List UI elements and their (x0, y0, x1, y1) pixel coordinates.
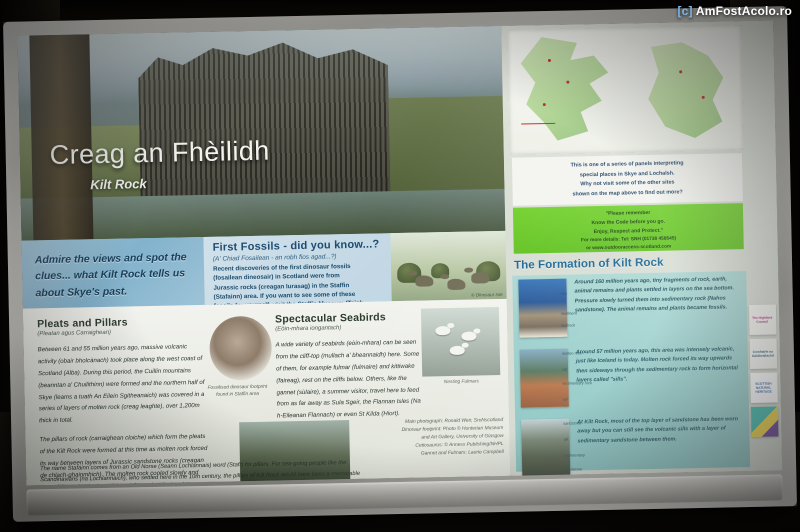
formation-text-1: Around 160 million years ago, tiny fragm… (574, 275, 743, 316)
series-information-box: This is one of a series of panels interp… (512, 153, 743, 206)
formation-label: sill (562, 367, 567, 372)
formation-text-2: Around 57 million years ago, this area w… (576, 345, 745, 386)
panel-right-column: This is one of a series of panels interp… (501, 20, 782, 475)
banner-row: Admire the views and spot the clues... w… (21, 231, 506, 309)
nesting-fulmars-image (421, 307, 500, 377)
watermark: [c] AmFostAcolo.ro (677, 4, 792, 18)
spectacular-seabirds-section: Spectacular Seabirds (Eòin-mhara iongant… (275, 311, 427, 430)
pleats-and-pillars-section: Pleats and Pillars (Pleatan agus Carraig… (37, 315, 209, 486)
logo-strip: The Highland Council Comhairle na Gàidhe… (746, 270, 780, 467)
map-mainland-landmass (642, 41, 736, 143)
access-code-box: "Please remember Know the Code before yo… (513, 203, 744, 254)
map-skye-landmass (515, 35, 635, 145)
formation-stage-1: sea sediment bedrock Around 160 million … (512, 271, 747, 342)
first-fossils-title: First Fossils - did you know...? (213, 238, 380, 253)
first-fossils-block: First Fossils - did you know...? (A' Chi… (203, 231, 506, 305)
highland-council-logo: The Highland Council (748, 304, 776, 335)
fossil-footprint-image (209, 316, 272, 381)
formation-heading: The Formation of Kilt Rock (514, 257, 664, 272)
article-area: Pleats and Pillars (Pleatan agus Carraig… (23, 299, 510, 486)
formation-label: sea (561, 291, 567, 296)
fossil-footprint-caption: Fossilised dinosaur footprint found in S… (202, 384, 272, 400)
formation-stage-2: molten rock sill sedimentary rock sill A… (514, 341, 749, 412)
panel-left-column: Creag an Fhèilidh Kilt Rock Admire the v… (17, 26, 510, 486)
panel-face: Creag an Fhèilidh Kilt Rock Admire the v… (17, 20, 782, 485)
formation-label: sandstone (564, 466, 582, 471)
formation-label: bedrock (561, 322, 575, 327)
page-subtitle: Kilt Rock (90, 176, 147, 192)
formation-diagram-panel: sea sediment bedrock Around 160 million … (512, 271, 750, 472)
partner-logo (750, 406, 778, 437)
pleats-paragraph-1: Between 61 and 55 million years ago, mas… (38, 341, 208, 427)
locator-map (507, 25, 743, 155)
fulmars-caption: Nesting Fulmars (422, 379, 500, 386)
interpretation-panel: Creag an Fhèilidh Kilt Rock Admire the v… (3, 6, 797, 522)
first-fossils-gaelic: (A' Chiad Fosailean - an robh fios agad.… (213, 253, 337, 262)
formation-stage-3: sandstone sill sedimentary sandstone At … (515, 411, 750, 482)
formation-diagram-3 (521, 419, 570, 478)
watermark-bracket: [c] (677, 4, 692, 18)
formation-label: sill (564, 437, 569, 442)
photograph-scene: Creag an Fhèilidh Kilt Rock Admire the v… (0, 0, 800, 532)
formation-diagram-1 (518, 279, 567, 338)
page-title: Creag an Fhèilidh (49, 136, 270, 171)
formation-label: sedimentary (564, 452, 585, 457)
credit-line: Gannet and Fulmars: Laurie Campbell (356, 449, 504, 460)
scottish-natural-heritage-logo: SCOTTISH NATURAL HERITAGE (750, 372, 778, 403)
intro-text: Admire the views and spot the clues... w… (35, 249, 196, 301)
seabirds-body: A wide variety of seabirds (eòin-mhara) … (275, 337, 427, 423)
intro-banner: Admire the views and spot the clues... w… (21, 237, 204, 309)
comhairle-logo: Comhairle na Gàidhealtachd (749, 338, 777, 369)
formation-text-3: At Kilt Rock, most of the top layer of s… (577, 415, 746, 446)
foreground-tree (29, 34, 93, 240)
dinosaur-illustration: © Dinosaur Isle (390, 231, 506, 301)
watermark-text: AmFostAcolo.ro (696, 4, 792, 18)
formation-label: sill (563, 397, 568, 402)
photo-credits: Main photograph: Ronald Weir, SroNscotla… (355, 417, 504, 460)
hero-photograph: Creag an Fhèilidh Kilt Rock (17, 26, 505, 241)
dinosaur-caption: © Dinosaur Isle (471, 292, 503, 298)
formation-diagram-2 (520, 349, 569, 408)
